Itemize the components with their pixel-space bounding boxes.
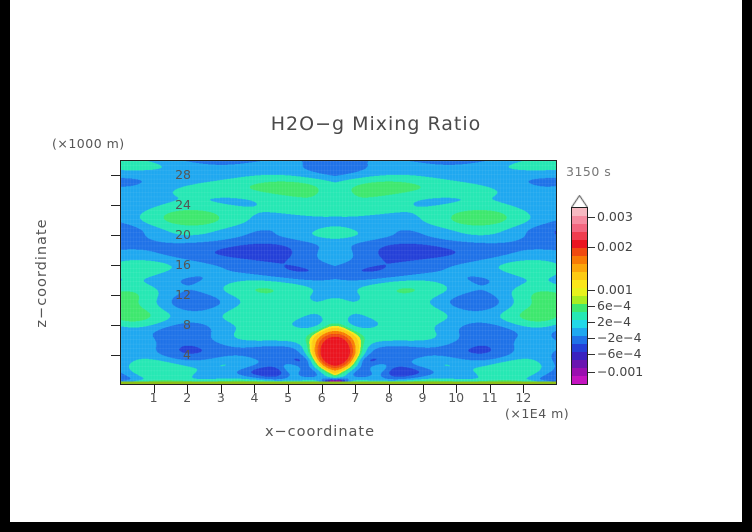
y-tick-mark xyxy=(111,325,120,326)
colorbar-band xyxy=(572,216,587,224)
x-axis-label: x−coordinate xyxy=(0,424,640,440)
colorbar-band xyxy=(572,288,587,296)
frame-bar-right xyxy=(742,0,752,532)
colorbar-band xyxy=(572,296,587,304)
y-tick-mark xyxy=(111,175,120,176)
x-axis-unit-label: (×1E4 m) xyxy=(505,406,569,421)
x-tick-mark xyxy=(322,385,323,393)
colorbar-tick-label: 2e−4 xyxy=(597,314,631,329)
page-title: H2O−g Mixing Ratio xyxy=(0,113,752,135)
colorbar-tick-mark xyxy=(588,290,595,291)
x-tick-mark xyxy=(523,385,524,393)
timestamp-label: 3150 s xyxy=(566,164,611,179)
colorbar-tick-label: 6e−4 xyxy=(597,298,631,313)
colorbar-band xyxy=(572,320,587,328)
colorbar-tick-label: −6e−4 xyxy=(597,346,642,361)
x-tick-mark xyxy=(490,385,491,393)
colorbar-band xyxy=(572,344,587,352)
colorbar-tick-mark xyxy=(588,217,595,218)
colorbar-band xyxy=(572,232,587,240)
colorbar-band xyxy=(572,208,587,216)
y-tick-label: 20 xyxy=(131,227,191,242)
x-tick-mark xyxy=(187,385,188,393)
colorbar-tick-mark xyxy=(588,372,595,373)
colorbar-band xyxy=(572,336,587,344)
colorbar-band xyxy=(572,264,587,272)
colorbar-tick-mark xyxy=(588,322,595,323)
colorbar-band xyxy=(572,280,587,288)
colorbar[interactable] xyxy=(571,207,588,385)
y-tick-mark xyxy=(111,295,120,296)
y-tick-mark xyxy=(111,235,120,236)
z-axis-unit-label: (×1000 m) xyxy=(52,136,125,151)
colorbar-band xyxy=(572,272,587,280)
colorbar-band xyxy=(572,368,587,376)
colorbar-band xyxy=(572,360,587,368)
x-tick-mark xyxy=(389,385,390,393)
y-tick-label: 8 xyxy=(131,317,191,332)
x-tick-mark xyxy=(456,385,457,393)
colorbar-band xyxy=(572,240,587,248)
frame-bar-bottom xyxy=(0,522,752,532)
colorbar-tick-mark xyxy=(588,338,595,339)
colorbar-band xyxy=(572,224,587,232)
colorbar-band xyxy=(572,248,587,256)
colorbar-tick-label: −0.001 xyxy=(597,364,643,379)
colorbar-tick-label: 0.003 xyxy=(597,209,633,224)
colorbar-band xyxy=(572,328,587,336)
colorbar-tick-mark xyxy=(588,247,595,248)
y-tick-mark xyxy=(111,355,120,356)
colorbar-tick-label: 0.002 xyxy=(597,239,633,254)
z-axis-label: z−coordinate xyxy=(34,213,50,333)
colorbar-band xyxy=(572,352,587,360)
colorbar-band xyxy=(572,256,587,264)
y-tick-label: 16 xyxy=(131,257,191,272)
y-tick-mark xyxy=(111,205,120,206)
y-tick-label: 28 xyxy=(131,167,191,182)
colorbar-band xyxy=(572,376,587,384)
x-tick-mark xyxy=(221,385,222,393)
colorbar-band xyxy=(572,312,587,320)
colorbar-band xyxy=(572,304,587,312)
y-tick-mark xyxy=(111,265,120,266)
colorbar-tick-label: 0.001 xyxy=(597,282,633,297)
x-tick-mark xyxy=(254,385,255,393)
colorbar-tick-mark xyxy=(588,354,595,355)
y-tick-label: 4 xyxy=(131,347,191,362)
x-tick-mark xyxy=(288,385,289,393)
x-tick-mark xyxy=(154,385,155,393)
colorbar-tick-mark xyxy=(588,306,595,307)
x-tick-mark xyxy=(355,385,356,393)
x-tick-mark xyxy=(423,385,424,393)
colorbar-tick-label: −2e−4 xyxy=(597,330,642,345)
y-tick-label: 24 xyxy=(131,197,191,212)
frame-bar-left xyxy=(0,0,10,532)
y-tick-label: 12 xyxy=(131,287,191,302)
